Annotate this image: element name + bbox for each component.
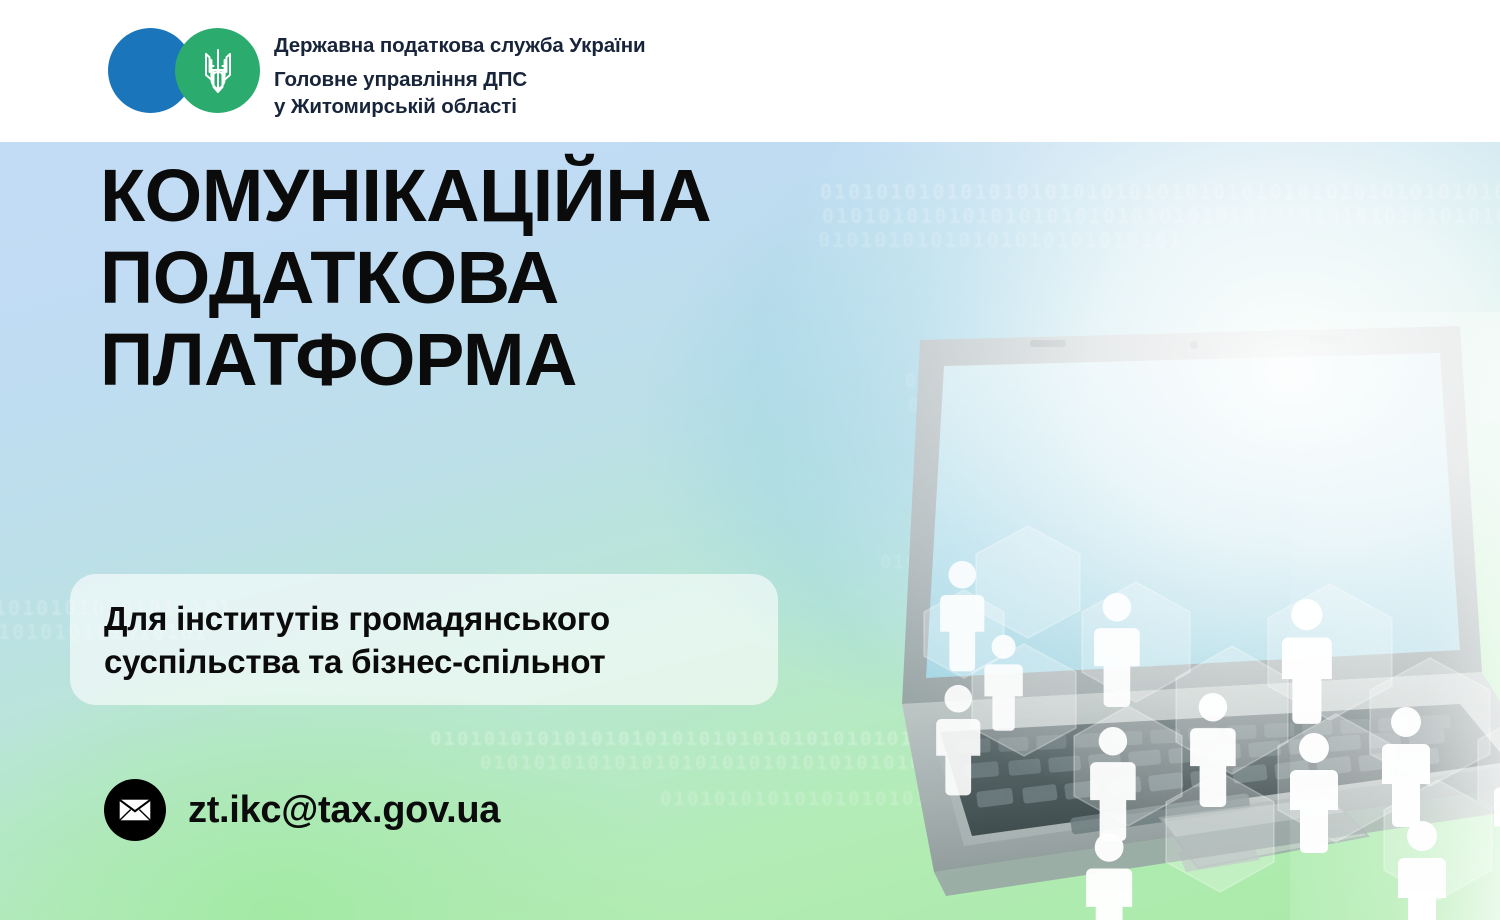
contact-email-text: zt.ikc@tax.gov.ua [188, 789, 500, 832]
header-band: Державна податкова служба України Головн… [0, 0, 1500, 142]
header-line-2: Головне управління ДПС [274, 66, 646, 93]
contact-email-row[interactable]: zt.ikc@tax.gov.ua [104, 779, 500, 841]
header-line-1: Державна податкова служба України [274, 32, 646, 59]
poster-root: 0101010101010101010101010101010101010101… [0, 0, 1500, 920]
subtitle-panel: Для інститутів громадянського суспільств… [70, 574, 778, 705]
subtitle-line-2: суспільства та бізнес-спільнот [104, 640, 744, 683]
organisation-logo: Державна податкова служба України Головн… [108, 28, 646, 120]
organisation-name: Державна податкова служба України Головн… [274, 28, 646, 120]
header-line-3: у Житомирській області [274, 93, 646, 120]
page-title: КОМУНІКАЦІЙНА ПОДАТКОВА ПЛАТФОРМА [100, 155, 711, 401]
headline-line-1: КОМУНІКАЦІЙНА [100, 155, 711, 237]
trident-icon [175, 28, 260, 113]
headline-line-2: ПОДАТКОВА [100, 237, 711, 319]
logo-marks [108, 28, 260, 113]
subtitle-line-1: Для інститутів громадянського [104, 597, 744, 640]
headline-line-3: ПЛАТФОРМА [100, 319, 711, 401]
envelope-icon [104, 779, 166, 841]
